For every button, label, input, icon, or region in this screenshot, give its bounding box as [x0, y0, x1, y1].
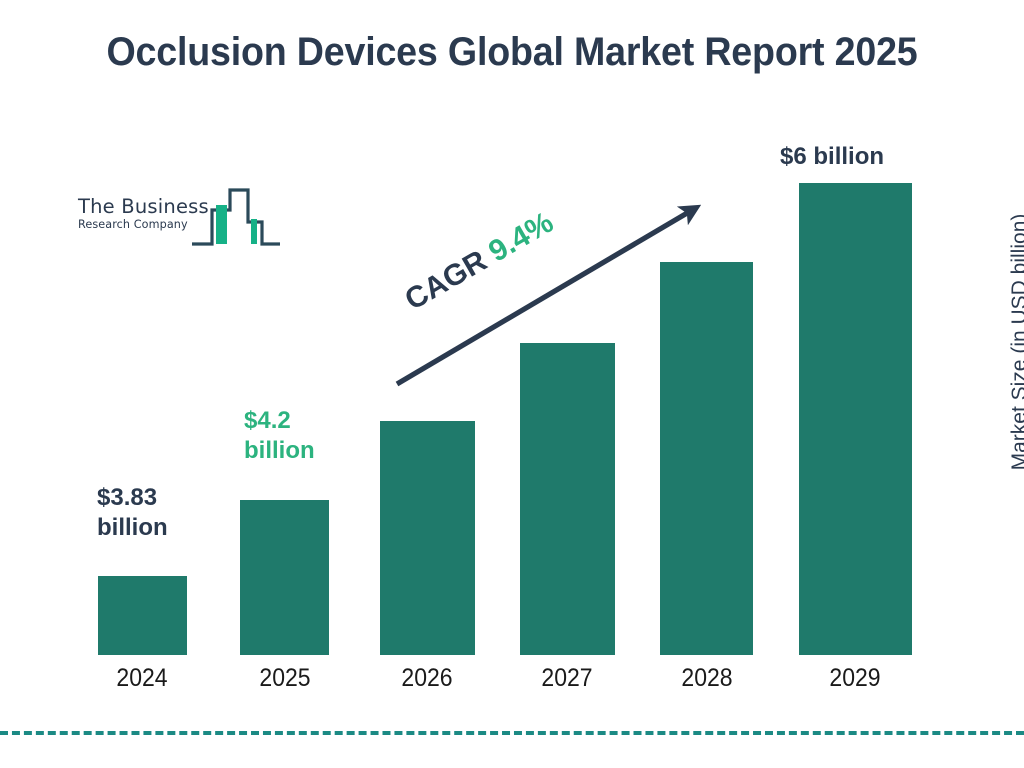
value-label-2029: $6 billion — [780, 142, 884, 172]
cagr-annotation: CAGR 9.4% — [400, 206, 560, 318]
bar-2027 — [520, 343, 615, 655]
xtick-2029: 2029 — [809, 663, 901, 693]
cagr-value: 9.4% — [483, 206, 559, 269]
bar-chart-plot-area: $3.83 billion $4.2 billion $6 billion CA… — [0, 0, 1024, 768]
cagr-label: CAGR — [400, 244, 493, 317]
xtick-2027: 2027 — [521, 663, 613, 693]
xtick-2028: 2028 — [661, 663, 753, 693]
bar-2026 — [380, 421, 475, 655]
xtick-2024: 2024 — [96, 663, 188, 693]
bar-2029 — [799, 183, 912, 655]
bottom-divider — [0, 731, 1024, 735]
bar-2028 — [660, 262, 753, 655]
bar-2025 — [240, 500, 329, 655]
xtick-2026: 2026 — [381, 663, 473, 693]
chart-page: Occlusion Devices Global Market Report 2… — [0, 0, 1024, 768]
value-label-2024: $3.83 billion — [97, 483, 168, 543]
bar-2024 — [98, 576, 187, 655]
value-label-2025: $4.2 billion — [244, 406, 315, 466]
y-axis-title: Market Size (in USD billion) — [1008, 172, 1024, 512]
xtick-2025: 2025 — [239, 663, 331, 693]
